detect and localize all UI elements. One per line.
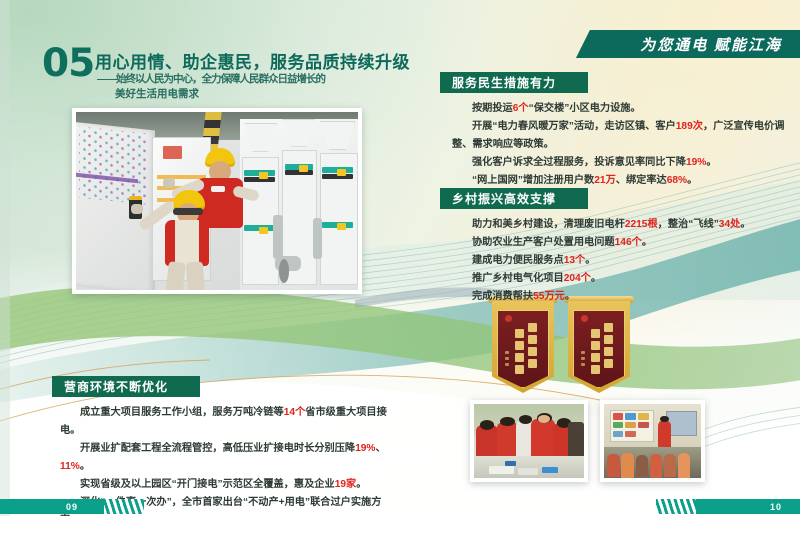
- body-paragraph: 成立重大项目服务工作小组，服务万吨冷链等14个省市级重大项目接电。: [60, 404, 390, 440]
- highlight-figure: 19家: [335, 479, 357, 490]
- body-text: 。: [687, 175, 697, 186]
- highlight-figure: 204个: [564, 273, 591, 284]
- body-text: “网上国网”增加注册用户数: [472, 175, 594, 186]
- body-text: 推广乡村电气化项目: [472, 273, 564, 284]
- body-text: 。: [706, 157, 716, 168]
- highlight-figure: 19%: [355, 443, 375, 454]
- body-text: 完成消费帮扶: [472, 291, 533, 302]
- section-tag-minsheng: 服务民生措施有力: [440, 72, 588, 93]
- body-text: 。: [80, 461, 90, 472]
- body-text: 、: [375, 443, 385, 454]
- body-paragraph: 按期投运6个“保交楼”小区电力设施。: [452, 100, 788, 118]
- section-tag-yingshang-label: 营商环境不断优化: [64, 378, 168, 395]
- award-plaque-2: [568, 296, 630, 400]
- community-service-image: [474, 404, 584, 478]
- body-paragraph: 强化客户诉求全过程服务，投诉意见率同比下降19%。: [452, 154, 788, 172]
- section-tag-minsheng-label: 服务民生措施有力: [452, 74, 556, 91]
- highlight-figure: 19%: [686, 157, 706, 168]
- page-subtitle: ——始终以人民为中心，全力保障人民群众日益增长的 美好生活用电需求: [97, 72, 387, 102]
- award-plaques-photo: [492, 296, 654, 400]
- body-text: 助力和美乡村建设，清理废旧电杆: [472, 219, 625, 230]
- body-text: 建成电力便民服务点: [472, 255, 564, 266]
- highlight-figure: 14个: [284, 407, 306, 418]
- page-number-left: 09: [66, 502, 78, 512]
- body-text: 实现省级及以上园区“开门接电”示范区全覆盖，惠及企业: [80, 479, 335, 490]
- award-plaque-1: [492, 296, 554, 400]
- slogan-ribbon: 为您通电 赋能江海: [576, 30, 800, 58]
- classroom-lecture-photo: [600, 400, 705, 482]
- body-text: ，整治“飞线”: [658, 219, 719, 230]
- highlight-figure: 11%: [60, 461, 80, 472]
- highlight-figure: 55万元: [533, 291, 565, 302]
- body-text: 。: [642, 237, 652, 248]
- section-body-minsheng: 按期投运6个“保交楼”小区电力设施。开展“电力春风暖万家”活动，走访区镇、客户1…: [452, 100, 788, 190]
- page-number-bar-right: 10: [682, 499, 800, 514]
- body-paragraph: 开展业扩配套工程全流程管控，高低压业扩接电时长分别压降19%、11%。: [60, 440, 390, 476]
- section-tag-xiangcun: 乡村振兴高效支撑: [440, 188, 588, 209]
- body-text: 协助农业生产客户处置用电问题: [472, 237, 615, 248]
- body-text: 开展业扩配套工程全流程管控，高低压业扩接电时长分别压降: [80, 443, 355, 454]
- body-paragraph: 助力和美乡村建设，清理废旧电杆2215根，整治“飞线”34处。: [452, 216, 788, 234]
- page-title: 用心用情、助企惠民，服务品质持续升级: [95, 48, 410, 73]
- body-paragraph: 完成消费帮扶55万元。: [452, 288, 788, 306]
- body-text: 按期投运: [472, 103, 513, 114]
- body-text: 。: [565, 291, 575, 302]
- footer-stripes-left: [104, 499, 144, 514]
- subtitle-line-2: 美好生活用电需求: [97, 87, 387, 102]
- body-paragraph: “网上国网”增加注册用户数21万、绑定率达68%。: [452, 172, 788, 190]
- footer-stripes-right: [656, 499, 696, 514]
- section-body-xiangcun: 助力和美乡村建设，清理废旧电杆2215根，整治“飞线”34处。协助农业生产客户处…: [452, 216, 788, 306]
- hero-photo-image: [76, 112, 358, 290]
- body-text: 开展“电力春风暖万家”活动，走访区镇、客户: [472, 121, 676, 132]
- subtitle-line-1: ——始终以人民为中心，全力保障人民群众日益增长的: [97, 73, 325, 85]
- page-number-right: 10: [770, 502, 782, 512]
- highlight-figure: 21万: [594, 175, 616, 186]
- highlight-figure: 146个: [615, 237, 642, 248]
- highlight-figure: 2215根: [625, 219, 658, 230]
- body-paragraph: 开展“电力春风暖万家”活动，走访区镇、客户189次，广泛宣传电价调整、需求响应等…: [452, 118, 788, 154]
- body-text: 成立重大项目服务工作小组，服务万吨冷链等: [80, 407, 284, 418]
- body-text: 。: [585, 255, 595, 266]
- section-tag-yingshang: 营商环境不断优化: [52, 376, 200, 397]
- highlight-figure: 189次: [676, 121, 703, 132]
- body-text: 强化客户诉求全过程服务，投诉意见率同比下降: [472, 157, 686, 168]
- section-number: 05: [42, 44, 94, 83]
- body-paragraph: 建成电力便民服务点13个。: [452, 252, 788, 270]
- body-paragraph: 实现省级及以上园区“开门接电”示范区全覆盖，惠及企业19家。: [60, 476, 390, 494]
- brochure-spread: 为您通电 赋能江海 05 用心用情、助企惠民，服务品质持续升级 ——始终以人民为…: [0, 0, 800, 542]
- section-tag-xiangcun-label: 乡村振兴高效支撑: [452, 190, 556, 207]
- body-text: 。: [356, 479, 366, 490]
- highlight-figure: 34处: [719, 219, 741, 230]
- slogan-text: 为您通电 赋能江海: [640, 34, 782, 55]
- footer-strip: [0, 516, 800, 542]
- body-text: “保交楼”小区电力设施。: [529, 103, 641, 114]
- highlight-figure: 68%: [667, 175, 687, 186]
- body-text: 。: [591, 273, 601, 284]
- page-number-bar-left: 09: [0, 499, 118, 514]
- highlight-figure: 6个: [513, 103, 529, 114]
- community-service-photo: [470, 400, 588, 482]
- highlight-figure: 13个: [564, 255, 586, 266]
- body-text: 、绑定率达: [616, 175, 667, 186]
- classroom-lecture-image: [604, 404, 701, 478]
- body-text: 。: [740, 219, 750, 230]
- body-paragraph: 协助农业生产客户处置用电问题146个。: [452, 234, 788, 252]
- hero-photo: [72, 108, 362, 294]
- body-paragraph: 推广乡村电气化项目204个。: [452, 270, 788, 288]
